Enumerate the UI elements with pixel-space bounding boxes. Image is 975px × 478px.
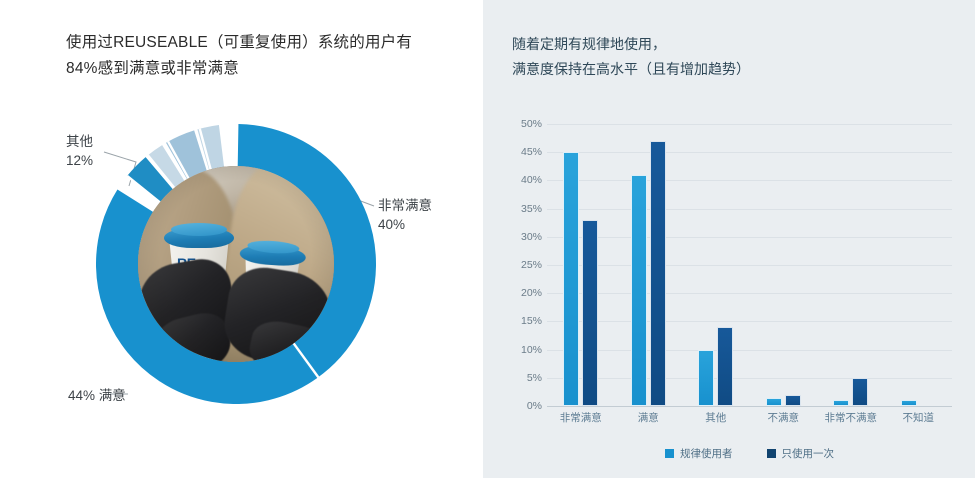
- bar-group: [901, 124, 936, 406]
- bar[interactable]: [650, 141, 666, 406]
- bar-chart: [547, 124, 952, 406]
- bar[interactable]: [833, 400, 849, 406]
- bar-group: [563, 124, 598, 406]
- bar-group: [766, 124, 801, 406]
- y-axis-tick-label: 50%: [521, 118, 542, 130]
- bar[interactable]: [785, 395, 801, 406]
- x-axis-tick-label: 非常满意: [560, 410, 602, 425]
- slide-root: 使用过REUSEABLE（可重复使用）系统的用户有 84%感到满意或非常满意: [0, 0, 975, 478]
- x-axis-tick-label: 不满意: [768, 410, 800, 425]
- y-axis-tick-label: 30%: [521, 231, 542, 243]
- y-axis-tick-label: 15%: [521, 315, 542, 327]
- y-axis-tick-label: 5%: [527, 372, 542, 384]
- x-axis-tick-label: 满意: [638, 410, 659, 425]
- center-photo: REUSE REUSE: [138, 166, 334, 362]
- donut-label-other: 其他 12%: [66, 132, 93, 170]
- legend-label: 只使用一次: [782, 446, 835, 461]
- bar[interactable]: [698, 350, 714, 406]
- bar[interactable]: [582, 220, 598, 406]
- bar[interactable]: [766, 398, 782, 406]
- x-axis-labels: 非常满意满意其他不满意非常不满意不知道: [547, 410, 952, 430]
- right-title-line-2: 满意度保持在高水平（且有增加趋势）: [512, 57, 842, 82]
- cup-lid-top: [171, 223, 227, 236]
- legend-label: 规律使用者: [680, 446, 733, 461]
- right-panel-title: 随着定期有规律地使用， 满意度保持在高水平（且有增加趋势）: [512, 32, 842, 82]
- x-axis-tick-label: 其他: [705, 410, 726, 425]
- donut-label-satisfied: 44% 满意: [68, 386, 126, 405]
- bar-group: [698, 124, 733, 406]
- bar[interactable]: [852, 378, 868, 406]
- bar[interactable]: [717, 327, 733, 406]
- y-axis-tick-label: 25%: [521, 259, 542, 271]
- legend-item[interactable]: 规律使用者: [665, 446, 733, 461]
- chart-legend: 规律使用者只使用一次: [547, 446, 952, 461]
- bar-group: [833, 124, 868, 406]
- y-axis-tick-label: 40%: [521, 174, 542, 186]
- donut-label-verysatisfied-value: 40%: [378, 215, 432, 234]
- axis-baseline: [547, 406, 952, 407]
- y-axis-tick-label: 45%: [521, 146, 542, 158]
- y-axis-tick-label: 0%: [527, 400, 542, 412]
- y-axis-tick-label: 20%: [521, 287, 542, 299]
- y-axis-labels: 50%45%40%35%30%25%20%15%10%5%0%: [502, 118, 542, 412]
- x-axis-tick-label: 非常不满意: [825, 410, 878, 425]
- donut-chart: REUSE REUSE: [96, 124, 376, 404]
- bar[interactable]: [901, 400, 917, 406]
- legend-item[interactable]: 只使用一次: [767, 446, 835, 461]
- donut-label-verysatisfied-name: 非常满意: [378, 196, 432, 215]
- donut-label-other-value: 12%: [66, 151, 93, 170]
- left-panel: 使用过REUSEABLE（可重复使用）系统的用户有 84%感到满意或非常满意: [0, 0, 483, 478]
- bar-series-container: [547, 124, 952, 406]
- x-axis-tick-label: 不知道: [903, 410, 935, 425]
- right-title-line-1: 随着定期有规律地使用，: [512, 32, 842, 57]
- y-axis-tick-label: 10%: [521, 344, 542, 356]
- donut-label-other-name: 其他: [66, 132, 93, 151]
- bar-group: [631, 124, 666, 406]
- bar[interactable]: [563, 152, 579, 406]
- donut-label-verysatisfied: 非常满意 40%: [378, 196, 432, 234]
- y-axis-tick-label: 35%: [521, 203, 542, 215]
- legend-swatch-icon: [665, 449, 674, 458]
- legend-swatch-icon: [767, 449, 776, 458]
- bar[interactable]: [631, 175, 647, 406]
